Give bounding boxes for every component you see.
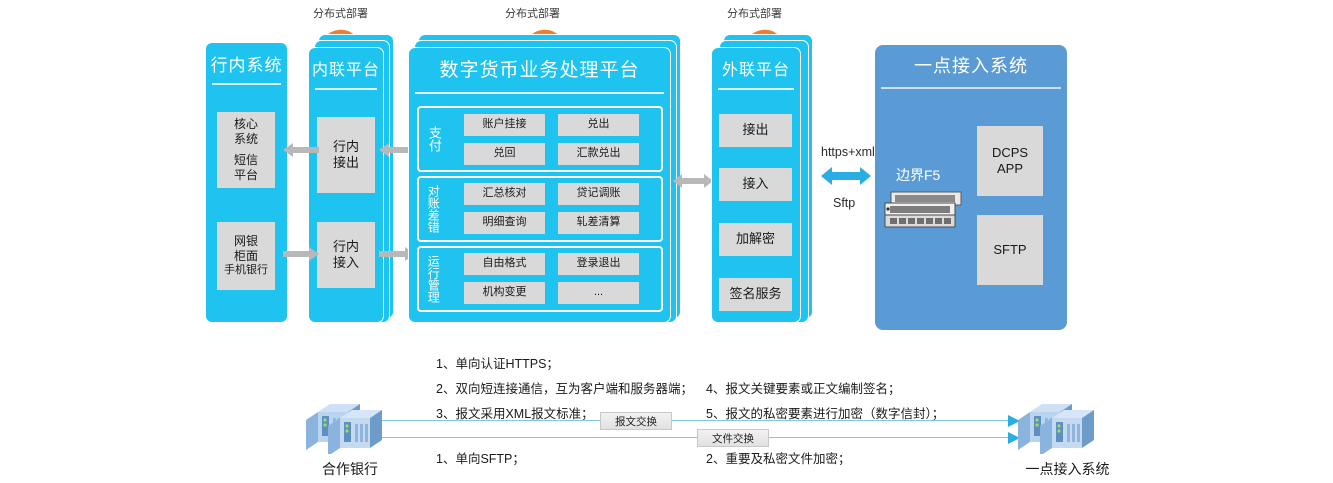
box-intra-in[interactable]: 行内 接入: [317, 222, 375, 288]
arrow-left-icon-core: [283, 142, 319, 163]
distributed-label-1: 分布式部署: [313, 5, 368, 21]
box-account-link[interactable]: 账户挂接: [464, 114, 545, 136]
network-device-icon: [883, 190, 965, 235]
protocol-label-sftp: Sftp: [833, 196, 855, 210]
server-stack-icon-left: [300, 402, 382, 459]
arrow-both-icon-dcep-ext: [673, 172, 713, 195]
bullet-right-4: 4、报文关键要素或正文编制签名；: [706, 378, 900, 397]
exchange-label-file[interactable]: 文件交换: [697, 429, 769, 447]
box-login-logout[interactable]: 登录退出: [558, 253, 639, 275]
protocol-label-https: https+xml: [821, 145, 875, 159]
box-dcps-app[interactable]: DCPS APP: [977, 126, 1043, 196]
f5-label: 边界F5: [896, 165, 940, 185]
panel-dcep-platform-title: 数字货币业务处理平台: [409, 48, 670, 88]
group-reconciliation-label: 对账差错: [424, 179, 442, 239]
node-caption-single-access: 一点接入系统: [1000, 459, 1135, 479]
divider: [212, 83, 281, 85]
box-more[interactable]: ...: [558, 282, 639, 304]
arrow-both-icon-protocol: [821, 165, 871, 192]
divider: [315, 88, 377, 90]
box-intra-out[interactable]: 行内 接出: [317, 117, 375, 193]
divider: [415, 92, 664, 94]
box-summary-check[interactable]: 汇总核对: [464, 183, 545, 205]
box-ext-out[interactable]: 接出: [719, 114, 792, 147]
distributed-label-2: 分布式部署: [505, 5, 560, 21]
panel-intranet-platform-title: 内联平台: [309, 48, 383, 88]
box-detail-query[interactable]: 明细查询: [464, 212, 545, 234]
node-caption-partner-bank: 合作银行: [300, 459, 400, 479]
exchange-line-message: [360, 420, 1020, 421]
divider: [881, 87, 1061, 89]
box-exchange-back[interactable]: 兑回: [464, 143, 545, 165]
arrow-right-icon-ebank: [283, 246, 319, 267]
box-sftp[interactable]: SFTP: [977, 215, 1043, 285]
box-credit-adjust[interactable]: 贷记调账: [558, 183, 639, 205]
box-sign-service[interactable]: 签名服务: [719, 278, 792, 311]
box-exchange-out[interactable]: 兑出: [558, 114, 639, 136]
box-ebank-counter-mobile[interactable]: 网银 柜面 手机银行: [217, 222, 275, 290]
divider: [718, 88, 794, 90]
bullet-left-2: 2、双向短连接通信，互为客户端和服务器端；: [436, 378, 693, 397]
bullet-left-1: 1、单向认证HTTPS；: [436, 353, 559, 372]
box-free-format[interactable]: 自由格式: [464, 253, 545, 275]
exchange-line-file: [360, 437, 1020, 438]
group-operations-label: 运行管理: [424, 249, 442, 309]
distributed-label-3: 分布式部署: [727, 5, 782, 21]
panel-external-platform-title: 外联平台: [712, 48, 800, 88]
box-netting-settle[interactable]: 轧差清算: [558, 212, 639, 234]
panel-intra-system-title: 行内系统: [206, 43, 287, 83]
box-encrypt-decrypt[interactable]: 加解密: [719, 223, 792, 256]
architecture-diagram: 分布式部署 分布式部署 分布式部署 行内系统 核心 系统 短信 平台 网银 柜面: [0, 0, 1333, 483]
exchange-label-message[interactable]: 报文交换: [600, 412, 672, 430]
box-org-change[interactable]: 机构变更: [464, 282, 545, 304]
panel-single-access-title: 一点接入系统: [875, 45, 1067, 85]
group-payment-label: 支付: [425, 112, 443, 166]
box-core-system[interactable]: 核心 系统 短信 平台: [217, 112, 275, 188]
box-ext-in[interactable]: 接入: [719, 168, 792, 201]
box-remit-out[interactable]: 汇款兑出: [558, 143, 639, 165]
server-stack-icon-right: [1012, 402, 1094, 459]
bullet-lower-right-2: 2、重要及私密文件加密；: [706, 448, 850, 467]
bullet-lower-left-1: 1、单向SFTP；: [436, 448, 525, 467]
